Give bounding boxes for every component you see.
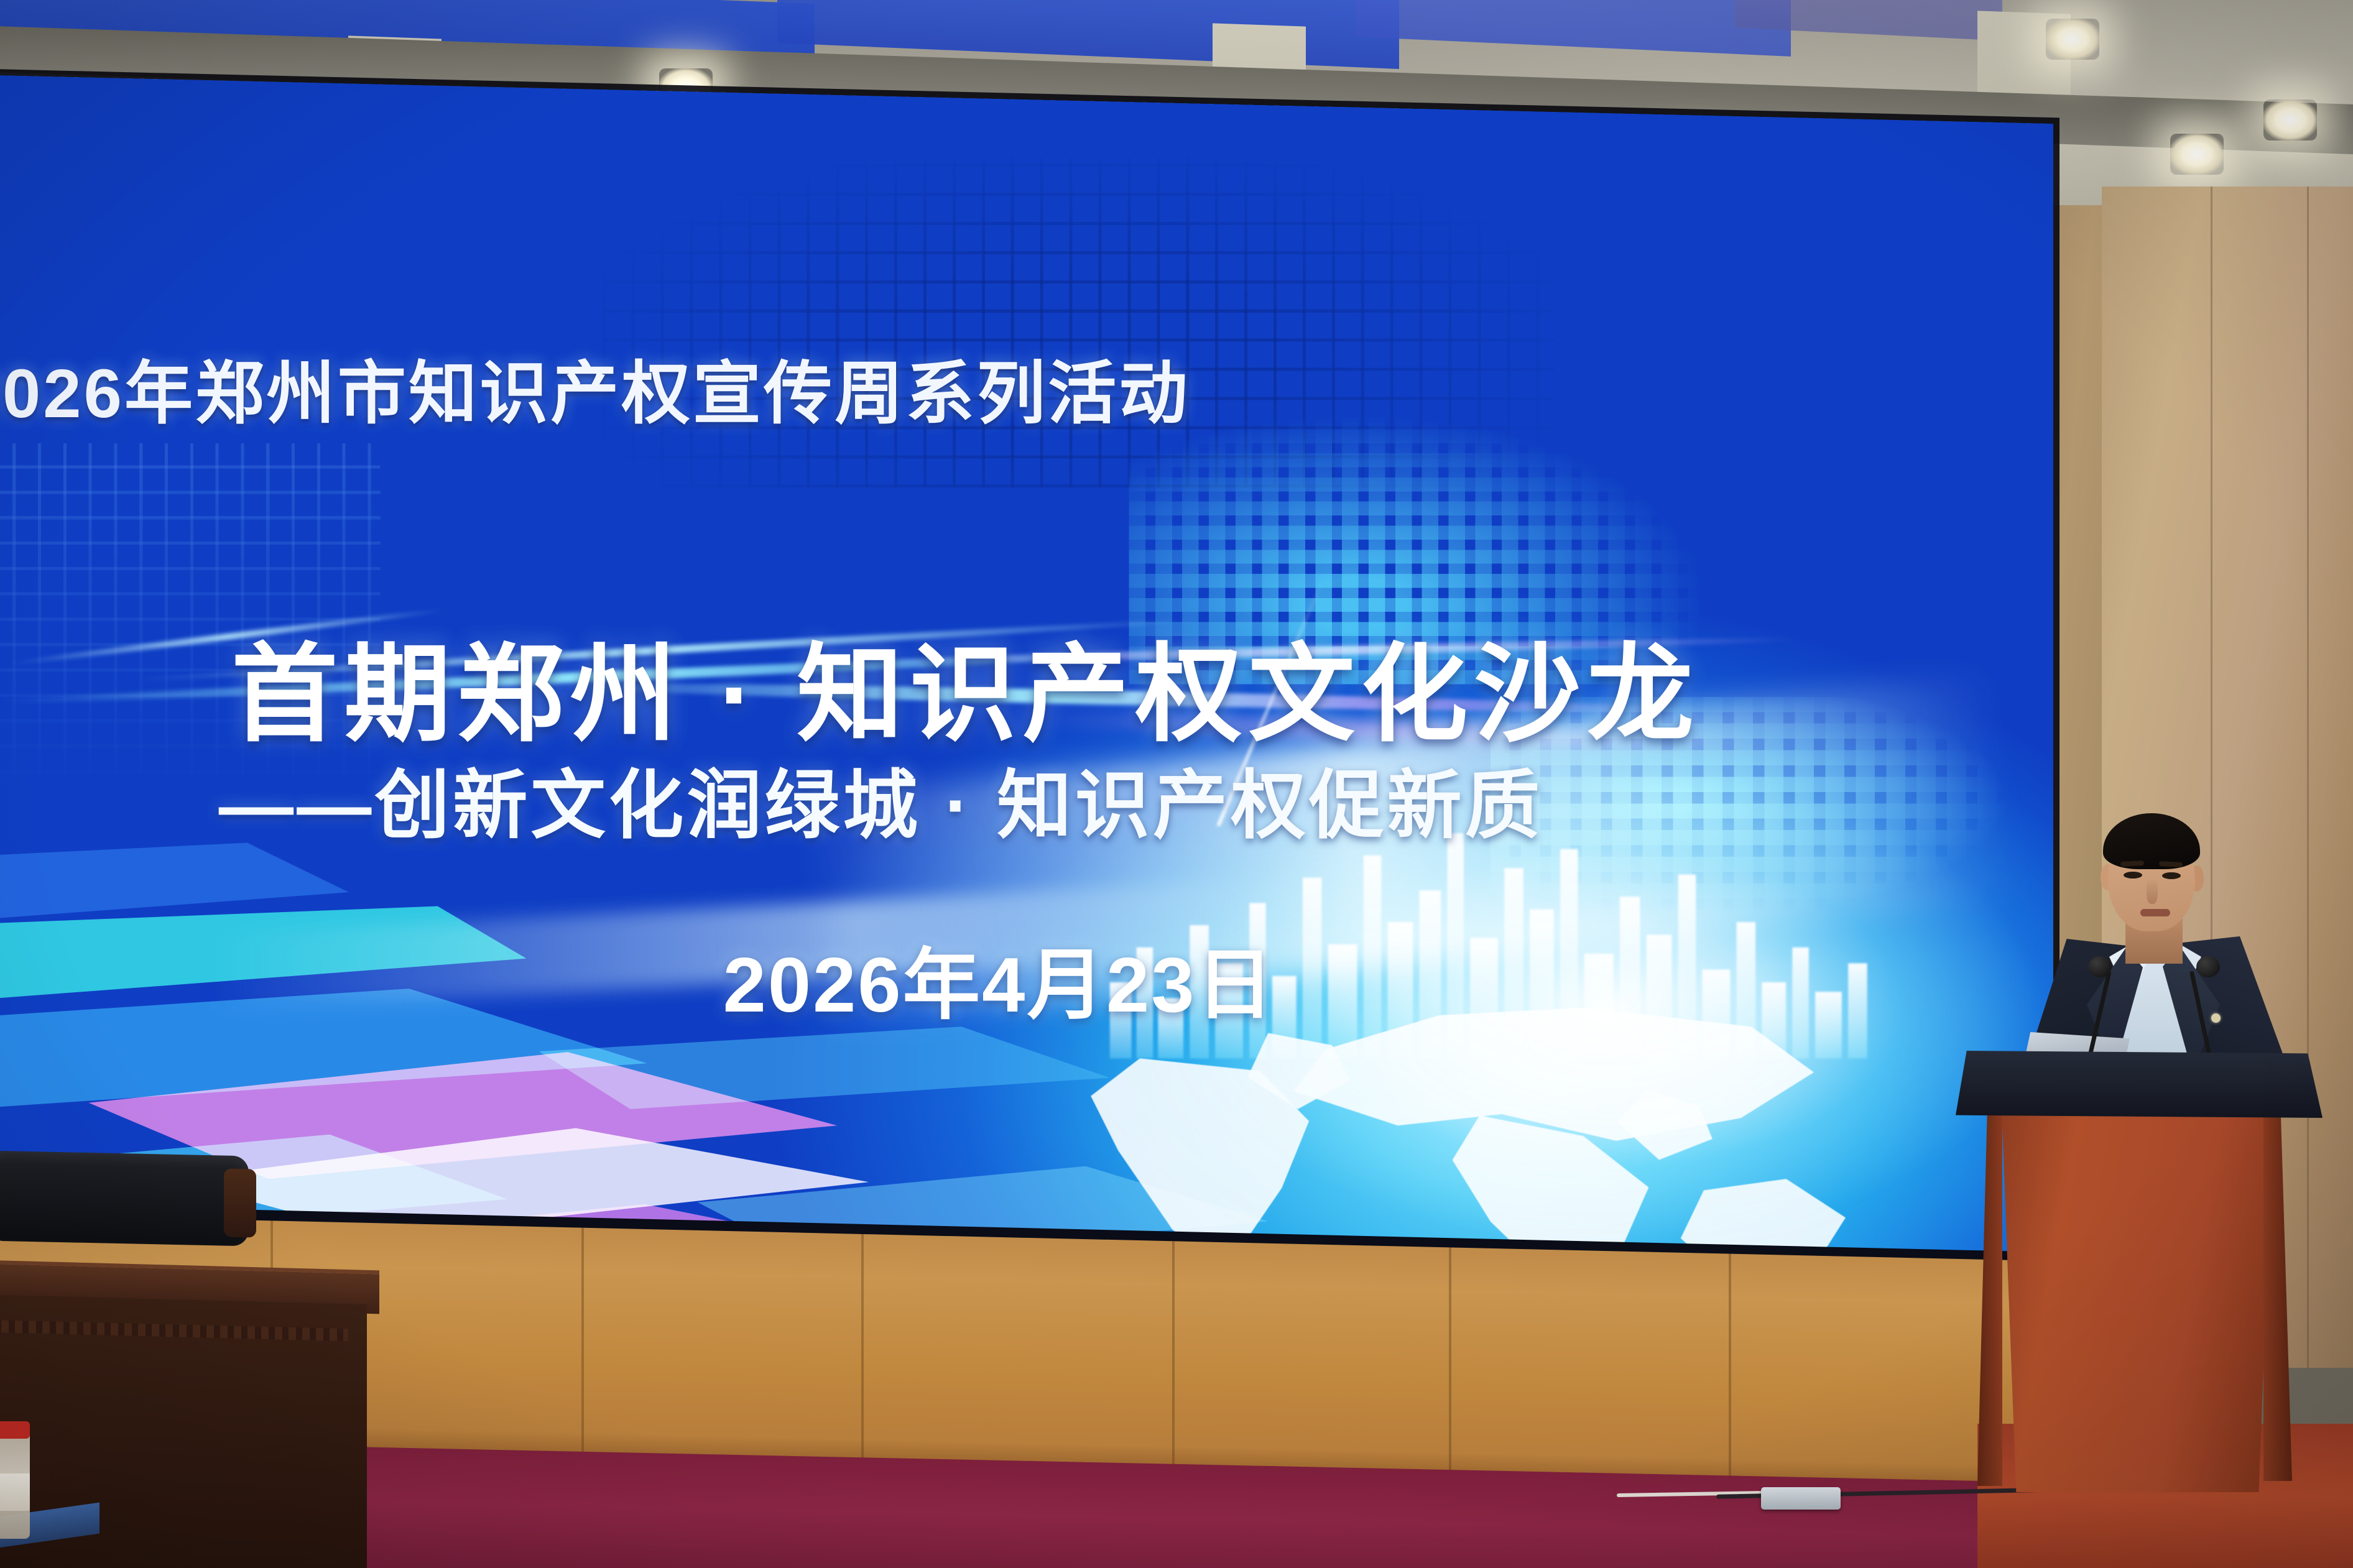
microphone-head [2088, 956, 2112, 977]
event-main-title: 首期郑州 · 知识产权文化沙龙 [231, 608, 1700, 762]
ceiling-light [2263, 99, 2317, 141]
led-screen-text-layer: 2026年郑州市知识产权宣传周系列活动 首期郑州 · 知识产权文化沙龙 ——创新… [0, 88, 2053, 1249]
lapel-pin [2211, 1013, 2221, 1023]
speaker-eye [2162, 872, 2181, 879]
conference-hall-scene: 2026年郑州市知识产权宣传周系列活动 [0, 0, 2353, 1568]
led-screen: 2026年郑州市知识产权宣传周系列活动 首期郑州 · 知识产权文化沙龙 ——创新… [0, 75, 2053, 1261]
speaker-nose [2147, 878, 2158, 904]
floor-power-box [1761, 1487, 1841, 1510]
ceiling-light [2046, 19, 2099, 60]
speaker-eye [2124, 872, 2142, 879]
microphone-head [2196, 956, 2220, 977]
water-bottle-cap [0, 1421, 30, 1439]
presiding-chair [0, 1151, 249, 1247]
water-bottle-label [0, 1473, 30, 1511]
ceiling-light [2170, 134, 2224, 175]
podium-top [1956, 1051, 2323, 1118]
led-screen-content: 2026年郑州市知识产权宣传周系列活动 首期郑州 · 知识产权文化沙龙 ——创新… [0, 88, 2053, 1249]
speaker-mouth [2140, 909, 2170, 916]
event-date: 2026年4月23日 [723, 922, 1275, 1035]
event-series-header: 2026年郑州市知识产权宣传周系列活动 [0, 339, 1190, 438]
chair-armrest [224, 1168, 256, 1237]
wall-seam [2307, 187, 2309, 1368]
event-subtitle: ——创新文化润绿城 · 知识产权促新质 [219, 744, 1543, 852]
podium-body [1990, 1107, 2282, 1492]
